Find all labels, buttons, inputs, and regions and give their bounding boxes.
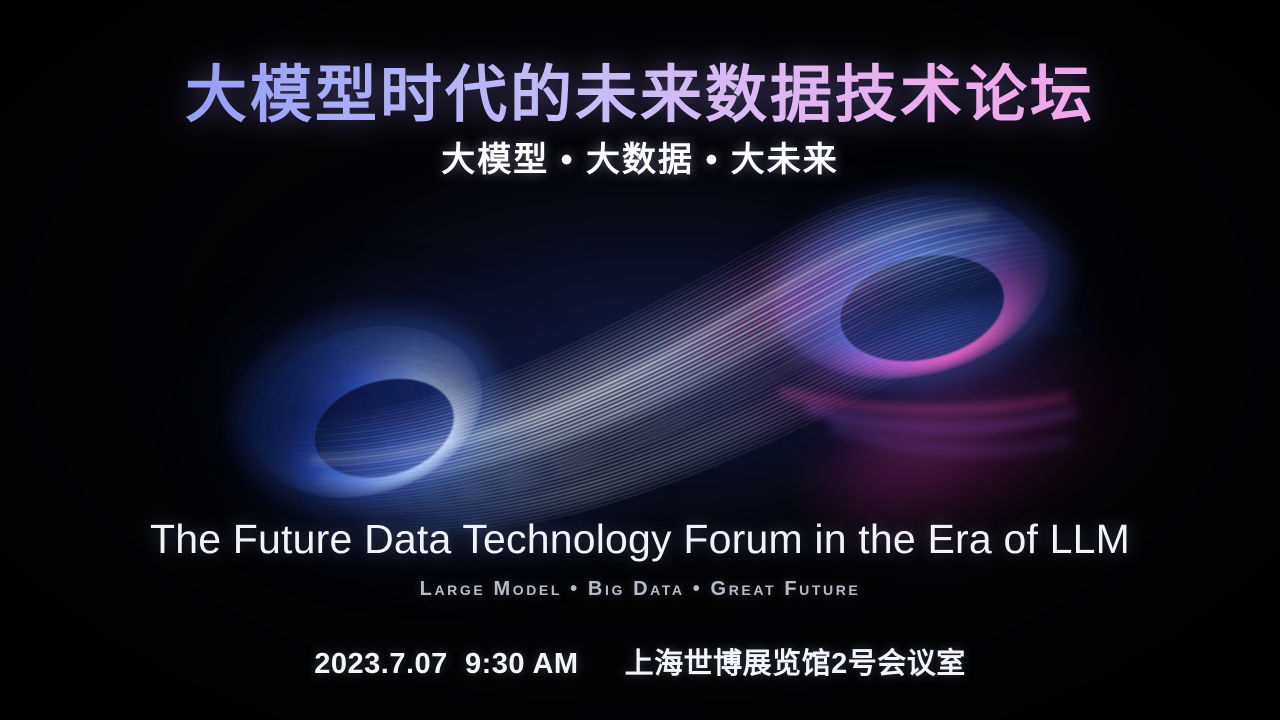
subtitle-chinese: 大模型 • 大数据 • 大未来 — [0, 132, 1280, 181]
page-title-english: The Future Data Technology Forum in the … — [0, 516, 1280, 563]
tagline-english: Large Model • Big Data • Great Future — [0, 578, 1280, 601]
event-date: 2023.7.07 — [314, 648, 448, 680]
event-details: 2023.7.07 9:30 AM上海世博展览馆2号会议室 — [0, 640, 1280, 682]
event-venue: 上海世博展览馆2号会议室 — [625, 648, 966, 680]
event-time: 9:30 AM — [465, 648, 579, 680]
page-title-chinese: 大模型时代的未来数据技术论坛 — [0, 44, 1280, 134]
event-poster: 大模型时代的未来数据技术论坛 大模型 • 大数据 • 大未来 The Futur… — [0, 0, 1280, 720]
infinity-ribbon-graphic — [170, 160, 1110, 540]
